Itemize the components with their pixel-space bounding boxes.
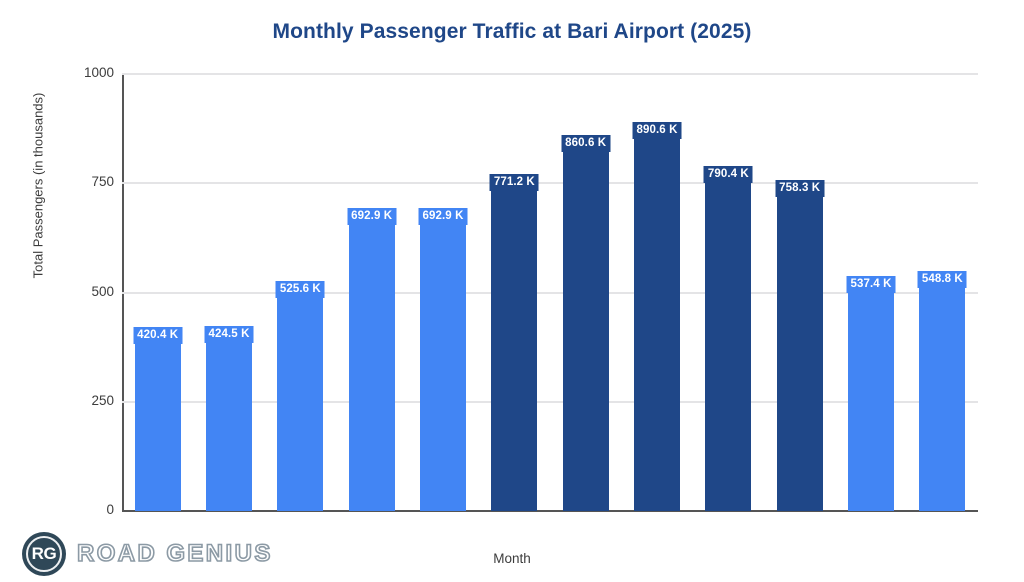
bar[interactable] [705, 166, 751, 511]
bar-group[interactable]: 692.9 K [349, 74, 395, 511]
y-axis-tick-label: 0 [52, 502, 114, 517]
y-axis-tick-label: 750 [52, 174, 114, 189]
y-axis-title: Total Passengers (in thousands) [31, 76, 46, 296]
bar-group[interactable]: 424.5 K [206, 74, 252, 511]
bar-value-label: 790.4 K [704, 166, 753, 183]
bar-value-label: 537.4 K [847, 276, 896, 293]
bar-value-label: 420.4 K [133, 327, 182, 344]
bar[interactable] [563, 135, 609, 511]
y-axis-tick-label: 500 [52, 284, 114, 299]
road-genius-logo-icon: RG [22, 532, 66, 576]
bar-value-label: 692.9 K [419, 208, 468, 225]
bar-value-label: 548.8 K [918, 271, 967, 288]
bar[interactable] [206, 326, 252, 512]
bar[interactable] [777, 180, 823, 511]
bar-group[interactable]: 420.4 K [135, 74, 181, 511]
bar[interactable] [491, 174, 537, 511]
logo-wordmark: ROAD GENIUS [77, 540, 273, 568]
bar-group[interactable]: 692.9 K [420, 74, 466, 511]
bar-value-label: 692.9 K [347, 208, 396, 225]
bar[interactable] [349, 208, 395, 511]
bar[interactable] [420, 208, 466, 511]
bar-group[interactable]: 537.4 K [848, 74, 894, 511]
bar[interactable] [919, 271, 965, 511]
bar-group[interactable]: 548.8 K [919, 74, 965, 511]
bar-group[interactable]: 790.4 K [705, 74, 751, 511]
bar-group[interactable]: 890.6 K [634, 74, 680, 511]
bar[interactable] [848, 276, 894, 511]
y-axis-tick-label: 1000 [52, 65, 114, 80]
bar-value-label: 525.6 K [276, 281, 325, 298]
bar-value-label: 890.6 K [633, 122, 682, 139]
bar-value-label: 860.6 K [561, 135, 610, 152]
bar[interactable] [634, 122, 680, 511]
bar-group[interactable]: 758.3 K [777, 74, 823, 511]
page-title: Monthly Passenger Traffic at Bari Airpor… [0, 20, 1024, 44]
bar[interactable] [277, 281, 323, 511]
bar-group[interactable]: 525.6 K [277, 74, 323, 511]
bar-value-label: 771.2 K [490, 174, 539, 191]
bar[interactable] [135, 327, 181, 511]
logo-monogram: RG [32, 544, 57, 564]
brand-logo: RG ROAD GENIUS [22, 532, 273, 576]
bar-value-label: 758.3 K [775, 180, 824, 197]
plot-area: 420.4 KJan424.5 KFeb525.6 KMar692.9 KApr… [122, 74, 978, 511]
chart-page: Monthly Passenger Traffic at Bari Airpor… [0, 0, 1024, 582]
y-axis-tick-label: 250 [52, 393, 114, 408]
bar-group[interactable]: 860.6 K [563, 74, 609, 511]
bar-value-label: 424.5 K [205, 326, 254, 343]
bar-group[interactable]: 771.2 K [491, 74, 537, 511]
